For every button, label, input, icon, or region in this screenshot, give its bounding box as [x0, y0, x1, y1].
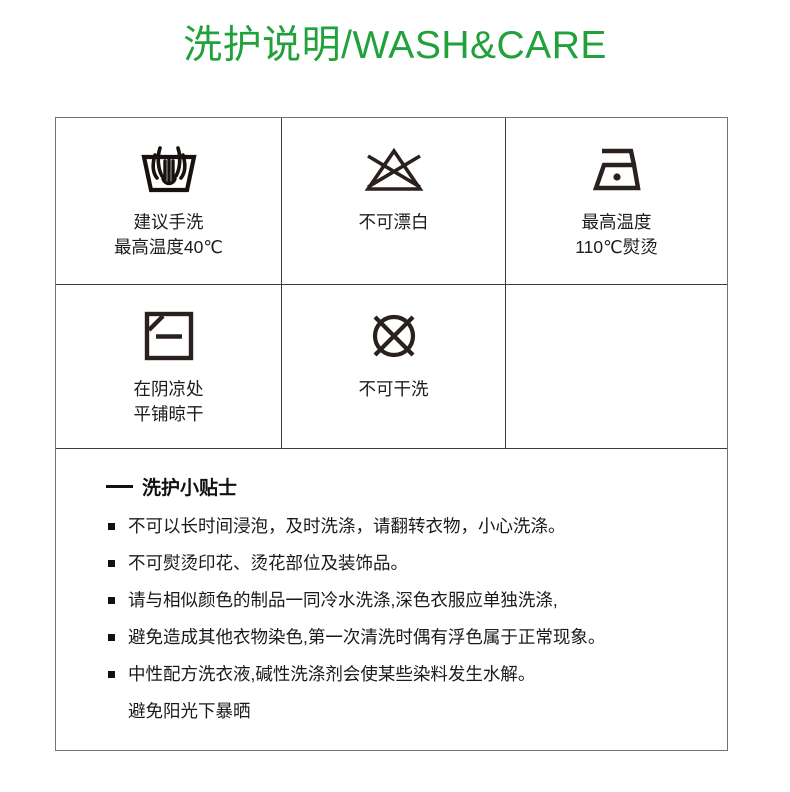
care-tips-heading: 洗护小贴士 — [106, 473, 697, 500]
list-item-text: 不可熨烫印花、烫花部位及装饰品。 — [128, 553, 408, 573]
care-cell-empty — [506, 285, 727, 448]
list-item-text: 避免造成其他衣物染色,第一次清洗时偶有浮色属于正常现象。 — [128, 627, 605, 647]
care-tips-panel: 洗护小贴士 不可以长时间浸泡，及时洗涤，请翻转衣物，小心洗涤。 不可熨烫印花、烫… — [56, 448, 727, 750]
care-symbol-row-1: 建议手洗 最高温度40℃ 不可漂白 — [56, 118, 727, 284]
list-item: 不可以长时间浸泡，及时洗涤，请翻转衣物，小心洗涤。 — [106, 516, 697, 537]
wash-care-label: 洗护说明/WASH&CARE 建议手洗 — [0, 0, 790, 792]
do-not-dry-clean-icon — [365, 305, 423, 367]
list-item-text: 中性配方洗衣液,碱性洗涤剂会使某些染料发生水解。 — [128, 664, 535, 684]
care-cell-dry-flat-shade: 在阴凉处 平铺晾干 — [56, 285, 281, 448]
care-symbol-row-2: 在阴凉处 平铺晾干 不可干洗 — [56, 284, 727, 448]
care-label-line-1: 最高温度 — [575, 210, 658, 235]
care-tips-list: 不可以长时间浸泡，及时洗涤，请翻转衣物，小心洗涤。 不可熨烫印花、烫花部位及装饰… — [106, 516, 697, 685]
list-item-text: 请与相似颜色的制品一同冷水洗涤,深色衣服应单独洗涤, — [128, 590, 558, 610]
care-tips-tail-text: 避免阳光下暴晒 — [106, 701, 697, 722]
care-cell-label: 在阴凉处 平铺晾干 — [134, 377, 204, 427]
page-title-text: 洗护说明/WASH&CARE — [183, 22, 607, 70]
bullet-square-icon — [108, 671, 115, 678]
list-item: 请与相似颜色的制品一同冷水洗涤,深色衣服应单独洗涤, — [106, 590, 697, 611]
heading-dash-icon — [106, 485, 133, 488]
bullet-square-icon — [108, 523, 115, 530]
care-cell-no-dry-clean: 不可干洗 — [281, 285, 506, 448]
care-label-line-1: 建议手洗 — [114, 210, 223, 235]
care-label-line-2: 平铺晾干 — [134, 402, 204, 427]
care-cell-label: 建议手洗 最高温度40℃ — [114, 210, 223, 260]
page-title: 洗护说明/WASH&CARE — [0, 22, 790, 70]
hand-wash-icon — [138, 138, 200, 200]
care-cell-label: 最高温度 110℃熨烫 — [575, 210, 658, 260]
list-item-text: 不可以长时间浸泡，及时洗涤，请翻转衣物，小心洗涤。 — [128, 516, 566, 536]
bullet-square-icon — [108, 634, 115, 641]
care-label-line-2: 最高温度40℃ — [114, 235, 223, 260]
dry-flat-in-shade-icon — [141, 305, 197, 367]
care-label-line-1: 在阴凉处 — [134, 377, 204, 402]
bullet-square-icon — [108, 597, 115, 604]
do-not-bleach-icon — [362, 138, 426, 200]
list-item: 中性配方洗衣液,碱性洗涤剂会使某些染料发生水解。 — [106, 664, 697, 685]
care-cell-iron: 最高温度 110℃熨烫 — [506, 118, 727, 284]
care-cell-no-bleach: 不可漂白 — [281, 118, 506, 284]
care-cell-label: 不可干洗 — [359, 377, 429, 402]
care-label-line-1: 不可漂白 — [359, 210, 429, 235]
iron-low-temp-icon — [586, 138, 648, 200]
care-tips-heading-text: 洗护小贴士 — [142, 473, 237, 500]
list-item: 避免造成其他衣物染色,第一次清洗时偶有浮色属于正常现象。 — [106, 627, 697, 648]
care-cell-hand-wash: 建议手洗 最高温度40℃ — [56, 118, 281, 284]
care-cell-label: 不可漂白 — [359, 210, 429, 235]
bullet-square-icon — [108, 560, 115, 567]
care-label-line-2: 110℃熨烫 — [575, 235, 658, 260]
care-label-line-1: 不可干洗 — [359, 377, 429, 402]
care-symbol-table: 建议手洗 最高温度40℃ 不可漂白 — [55, 117, 728, 751]
list-item: 不可熨烫印花、烫花部位及装饰品。 — [106, 553, 697, 574]
